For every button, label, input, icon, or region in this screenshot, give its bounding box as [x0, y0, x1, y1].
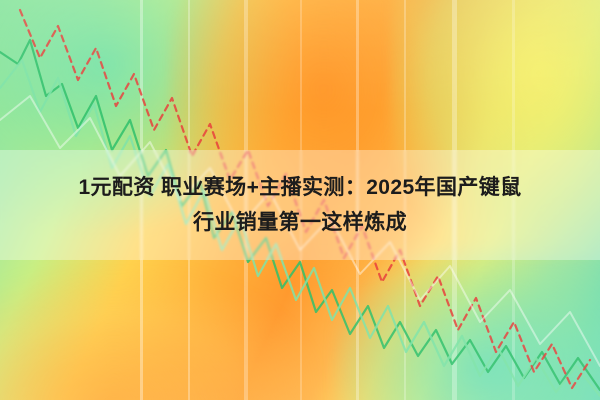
headline-block: 1元配资 职业赛场+主播实测：2025年国产键鼠 行业销量第一这样炼成: [0, 150, 600, 260]
headline-line-2: 行业销量第一这样炼成: [193, 210, 407, 235]
banner-image: 1元配资 职业赛场+主播实测：2025年国产键鼠 行业销量第一这样炼成: [0, 0, 600, 400]
headline-line-1: 1元配资 职业赛场+主播实测：2025年国产键鼠: [78, 175, 521, 200]
